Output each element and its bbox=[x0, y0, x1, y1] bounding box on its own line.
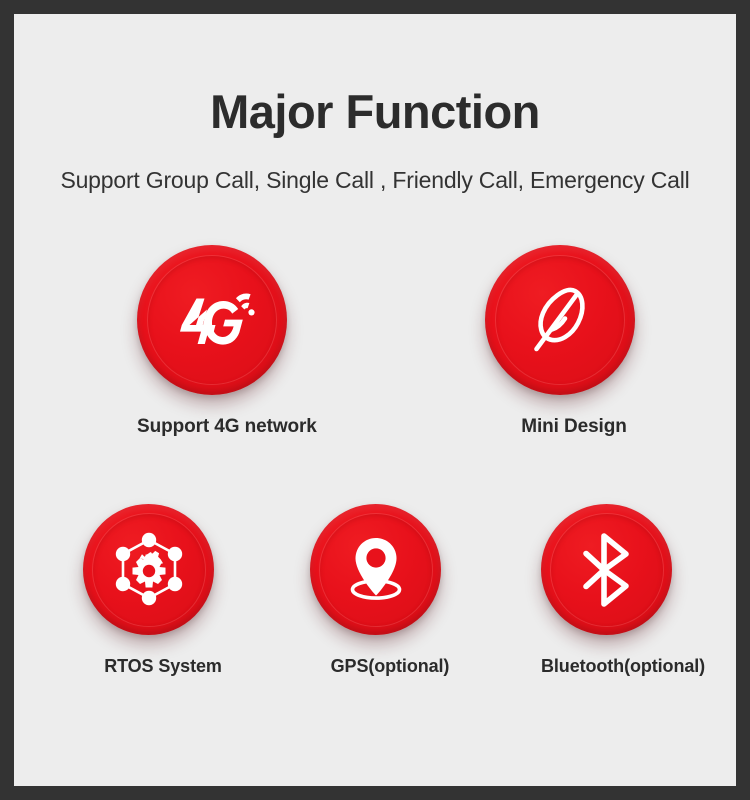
feature-item-rtos-system: RTOS System bbox=[83, 504, 243, 677]
bluetooth-icon bbox=[576, 531, 638, 609]
network-gear-icon bbox=[112, 532, 186, 608]
icon-badge-wrapper bbox=[541, 504, 701, 635]
feature-label: Mini Design bbox=[485, 416, 663, 438]
feature-label: RTOS System bbox=[83, 656, 243, 677]
feature-label: Bluetooth(optional) bbox=[541, 656, 701, 677]
feature-item-bluetooth-optional: Bluetooth(optional) bbox=[541, 504, 701, 677]
icon-badge-wrapper bbox=[137, 245, 315, 395]
feature-grid: Support 4G network Mini bbox=[14, 14, 736, 786]
poster-canvas: Major Function Support Group Call, Singl… bbox=[14, 14, 736, 786]
icon-badge bbox=[83, 504, 214, 635]
icon-badge-wrapper bbox=[485, 245, 663, 395]
icon-badge bbox=[310, 504, 441, 635]
feature-label: GPS(optional) bbox=[310, 656, 470, 677]
feature-item-mini-design: Mini Design bbox=[485, 245, 663, 438]
feature-item-gps-optional: GPS(optional) bbox=[310, 504, 470, 677]
icon-badge-wrapper bbox=[310, 504, 470, 635]
feather-icon bbox=[523, 282, 597, 358]
map-pin-icon bbox=[341, 533, 411, 607]
feature-label: Support 4G network bbox=[137, 416, 315, 438]
icon-badge bbox=[485, 245, 635, 395]
4g-signal-icon bbox=[166, 284, 258, 356]
icon-badge-wrapper bbox=[83, 504, 243, 635]
icon-badge bbox=[137, 245, 287, 395]
icon-badge bbox=[541, 504, 672, 635]
feature-item-support-4g-network: Support 4G network bbox=[137, 245, 315, 438]
poster-frame: Major Function Support Group Call, Singl… bbox=[0, 0, 750, 800]
